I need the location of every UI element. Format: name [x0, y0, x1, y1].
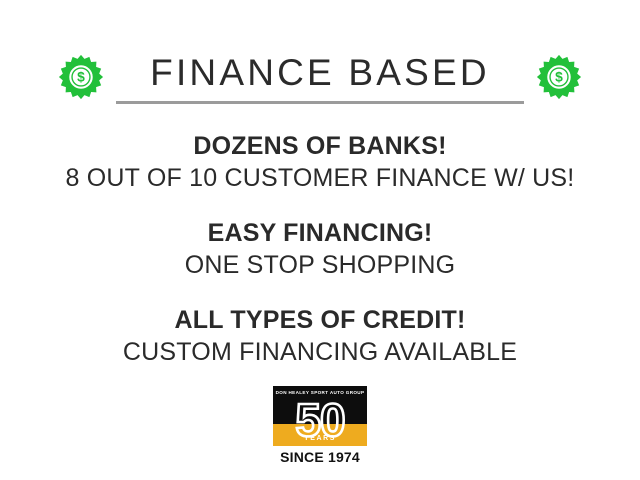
title-divider	[116, 101, 524, 104]
finance-based-slide: $ FINANCE BASED $ DOZENS OF BANKS! 8 OUT…	[0, 0, 640, 480]
copy-group-credit: ALL TYPES OF CREDIT! CUSTOM FINANCING AV…	[0, 304, 640, 369]
logo-years-label: YEARS	[273, 434, 367, 443]
copy-headline: DOZENS OF BANKS!	[0, 130, 640, 162]
copy-block: DOZENS OF BANKS! 8 OUT OF 10 CUSTOMER FI…	[0, 130, 640, 369]
copy-subline: ONE STOP SHOPPING	[0, 249, 640, 282]
gear-dollar-icon-right: $	[536, 54, 582, 100]
copy-headline: EASY FINANCING!	[0, 217, 640, 249]
copy-group-banks: DOZENS OF BANKS! 8 OUT OF 10 CUSTOMER FI…	[0, 130, 640, 195]
copy-subline: 8 OUT OF 10 CUSTOMER FINANCE W/ US!	[0, 162, 640, 195]
title-block: FINANCE BASED	[116, 51, 524, 104]
copy-subline: CUSTOM FINANCING AVAILABLE	[0, 336, 640, 369]
dealer-anniversary-logo: DON HEALEY SPORT AUTO GROUP 50 YEARS SIN…	[273, 386, 367, 466]
copy-headline: ALL TYPES OF CREDIT!	[0, 304, 640, 336]
gear-dollar-icon-left: $	[58, 54, 104, 100]
logo-since-label: SINCE 1974	[273, 448, 367, 466]
page-title: FINANCE BASED	[150, 51, 490, 95]
logo-badge: DON HEALEY SPORT AUTO GROUP 50 YEARS	[273, 386, 367, 446]
copy-group-easy-financing: EASY FINANCING! ONE STOP SHOPPING	[0, 217, 640, 282]
svg-text:$: $	[77, 70, 85, 85]
svg-text:$: $	[555, 70, 563, 85]
header: $ FINANCE BASED $	[0, 44, 640, 110]
